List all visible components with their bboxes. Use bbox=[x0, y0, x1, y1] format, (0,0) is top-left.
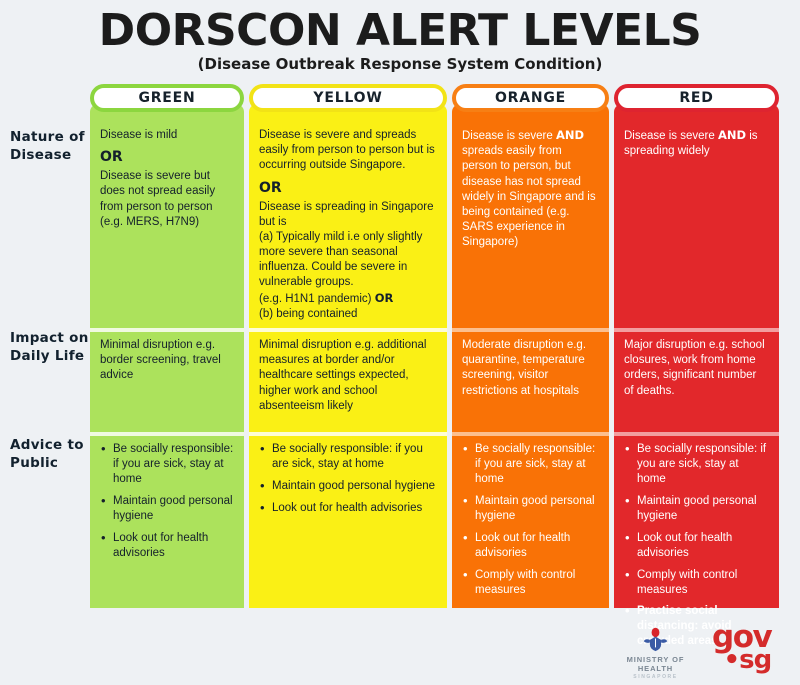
column-orange: Disease is severe AND spreads easily fro… bbox=[452, 84, 609, 112]
orange-nature-text: Disease is severe AND spreads easily fro… bbox=[462, 128, 599, 250]
red-nature-text: Disease is severe AND is spreading widel… bbox=[624, 128, 769, 159]
column-red: Disease is severe AND is spreading widel… bbox=[614, 84, 779, 112]
list-item: Be socially responsible: if you are sick… bbox=[259, 442, 437, 472]
yellow-nature-line-4-or: OR bbox=[375, 291, 394, 305]
green-nature-line-3: (e.g. MERS, H7N9) bbox=[100, 215, 234, 230]
cell-orange-impact: Moderate disruption e.g. quarantine, tem… bbox=[452, 328, 609, 432]
yellow-nature-line-4-pre: (e.g. H1N1 pandemic) bbox=[259, 293, 375, 305]
yellow-nature-line-3: (a) Typically mild i.e only slightly mor… bbox=[259, 230, 437, 291]
cell-green-nature: Disease is mild OR Disease is severe but… bbox=[90, 104, 244, 328]
row-label-line-2: Daily Life bbox=[10, 348, 84, 364]
list-item: Look out for health advisories bbox=[462, 531, 599, 561]
cell-yellow-advice: Be socially responsible: if you are sick… bbox=[249, 432, 447, 516]
list-item: Comply with control measures bbox=[462, 568, 599, 598]
list-item: Look out for health advisories bbox=[259, 501, 437, 516]
green-nature-or: OR bbox=[100, 149, 234, 165]
red-nature-and: AND bbox=[718, 128, 746, 142]
yellow-impact-text: Minimal disruption e.g. additional measu… bbox=[259, 338, 437, 414]
orange-nature-post: spreads easily from person to person, bu… bbox=[462, 145, 596, 248]
yellow-nature-or: OR bbox=[259, 180, 437, 196]
cell-yellow-nature: Disease is severe and spreads easily fro… bbox=[249, 104, 447, 328]
yellow-nature-line-1: Disease is severe and spreads easily fro… bbox=[259, 128, 437, 174]
orange-impact-text: Moderate disruption e.g. quarantine, tem… bbox=[462, 338, 599, 399]
footer: MINISTRY OF HEALTH SINGAPORE gov •sg bbox=[0, 617, 800, 679]
list-item: Comply with control measures bbox=[624, 568, 769, 598]
moh-name-text: MINISTRY OF HEALTH bbox=[608, 655, 703, 673]
infographic-page: DORSCON ALERT LEVELS (Disease Outbreak R… bbox=[0, 0, 800, 685]
list-item: Maintain good personal hygiene bbox=[100, 494, 234, 524]
green-impact-text: Minimal disruption e.g. border screening… bbox=[100, 338, 234, 384]
list-item: Maintain good personal hygiene bbox=[259, 479, 437, 494]
row-label-nature-of-disease: Nature of Disease bbox=[10, 128, 98, 164]
govsg-logo: gov •sg bbox=[712, 625, 771, 672]
yellow-nature-line-2: Disease is spreading in Singapore but is bbox=[259, 200, 437, 230]
yellow-advice-list: Be socially responsible: if you are sick… bbox=[259, 442, 437, 516]
yellow-nature-line-5: (b) being contained bbox=[259, 307, 437, 322]
row-label-line-1: Advice to bbox=[10, 437, 84, 453]
cell-orange-nature: Disease is severe AND spreads easily fro… bbox=[452, 104, 609, 328]
row-label-line-1: Impact on bbox=[10, 330, 89, 346]
cell-red-nature: Disease is severe AND is spreading widel… bbox=[614, 104, 779, 328]
cell-orange-advice: Be socially responsible: if you are sick… bbox=[452, 432, 609, 597]
row-label-line-1: Nature of bbox=[10, 129, 85, 145]
cell-red-impact: Major disruption e.g. school closures, w… bbox=[614, 328, 779, 432]
list-item: Maintain good personal hygiene bbox=[462, 494, 599, 524]
orange-nature-and: AND bbox=[556, 128, 584, 142]
list-item: Be socially responsible: if you are sick… bbox=[100, 442, 234, 487]
row-label-line-2: Disease bbox=[10, 147, 71, 163]
ministry-of-health-logo: MINISTRY OF HEALTH SINGAPORE bbox=[608, 625, 703, 680]
yellow-nature-line-4: (e.g. H1N1 pandemic) OR bbox=[259, 291, 437, 307]
cell-green-advice: Be socially responsible: if you are sick… bbox=[90, 432, 244, 561]
list-item: Be socially responsible: if you are sick… bbox=[462, 442, 599, 487]
green-nature-line-2: Disease is severe but does not spread ea… bbox=[100, 169, 234, 215]
column-yellow: Disease is severe and spreads easily fro… bbox=[249, 84, 447, 112]
column-green-body: Disease is mild OR Disease is severe but… bbox=[90, 104, 244, 608]
level-pill-orange[interactable]: ORANGE bbox=[452, 84, 609, 112]
list-item: Look out for health advisories bbox=[100, 531, 234, 561]
page-subtitle: (Disease Outbreak Response System Condit… bbox=[0, 55, 800, 73]
column-red-body: Disease is severe AND is spreading widel… bbox=[614, 104, 779, 608]
orange-advice-list: Be socially responsible: if you are sick… bbox=[462, 442, 599, 597]
level-pill-green[interactable]: GREEN bbox=[90, 84, 244, 112]
moh-crest-icon bbox=[608, 625, 703, 653]
page-title: DORSCON ALERT LEVELS bbox=[0, 8, 800, 54]
list-item: Maintain good personal hygiene bbox=[624, 494, 769, 524]
moh-sub-text: SINGAPORE bbox=[608, 674, 703, 680]
row-label-impact-on-daily-life: Impact on Daily Life bbox=[10, 329, 98, 365]
column-yellow-body: Disease is severe and spreads easily fro… bbox=[249, 104, 447, 608]
list-item: Be socially responsible: if you are sick… bbox=[624, 442, 769, 487]
green-nature-line-1: Disease is mild bbox=[100, 128, 234, 143]
cell-green-impact: Minimal disruption e.g. border screening… bbox=[90, 328, 244, 432]
cell-yellow-impact: Minimal disruption e.g. additional measu… bbox=[249, 328, 447, 432]
orange-nature-pre: Disease is severe bbox=[462, 130, 556, 142]
red-impact-text: Major disruption e.g. school closures, w… bbox=[624, 338, 769, 399]
column-green: Disease is mild OR Disease is severe but… bbox=[90, 84, 244, 112]
red-nature-pre: Disease is severe bbox=[624, 130, 718, 142]
list-item: Look out for health advisories bbox=[624, 531, 769, 561]
green-advice-list: Be socially responsible: if you are sick… bbox=[100, 442, 234, 561]
row-label-line-2: Public bbox=[10, 455, 58, 471]
level-pill-red[interactable]: RED bbox=[614, 84, 779, 112]
row-label-advice-to-public: Advice to Public bbox=[10, 436, 98, 472]
level-pill-yellow[interactable]: YELLOW bbox=[249, 84, 447, 112]
column-orange-body: Disease is severe AND spreads easily fro… bbox=[452, 104, 609, 608]
